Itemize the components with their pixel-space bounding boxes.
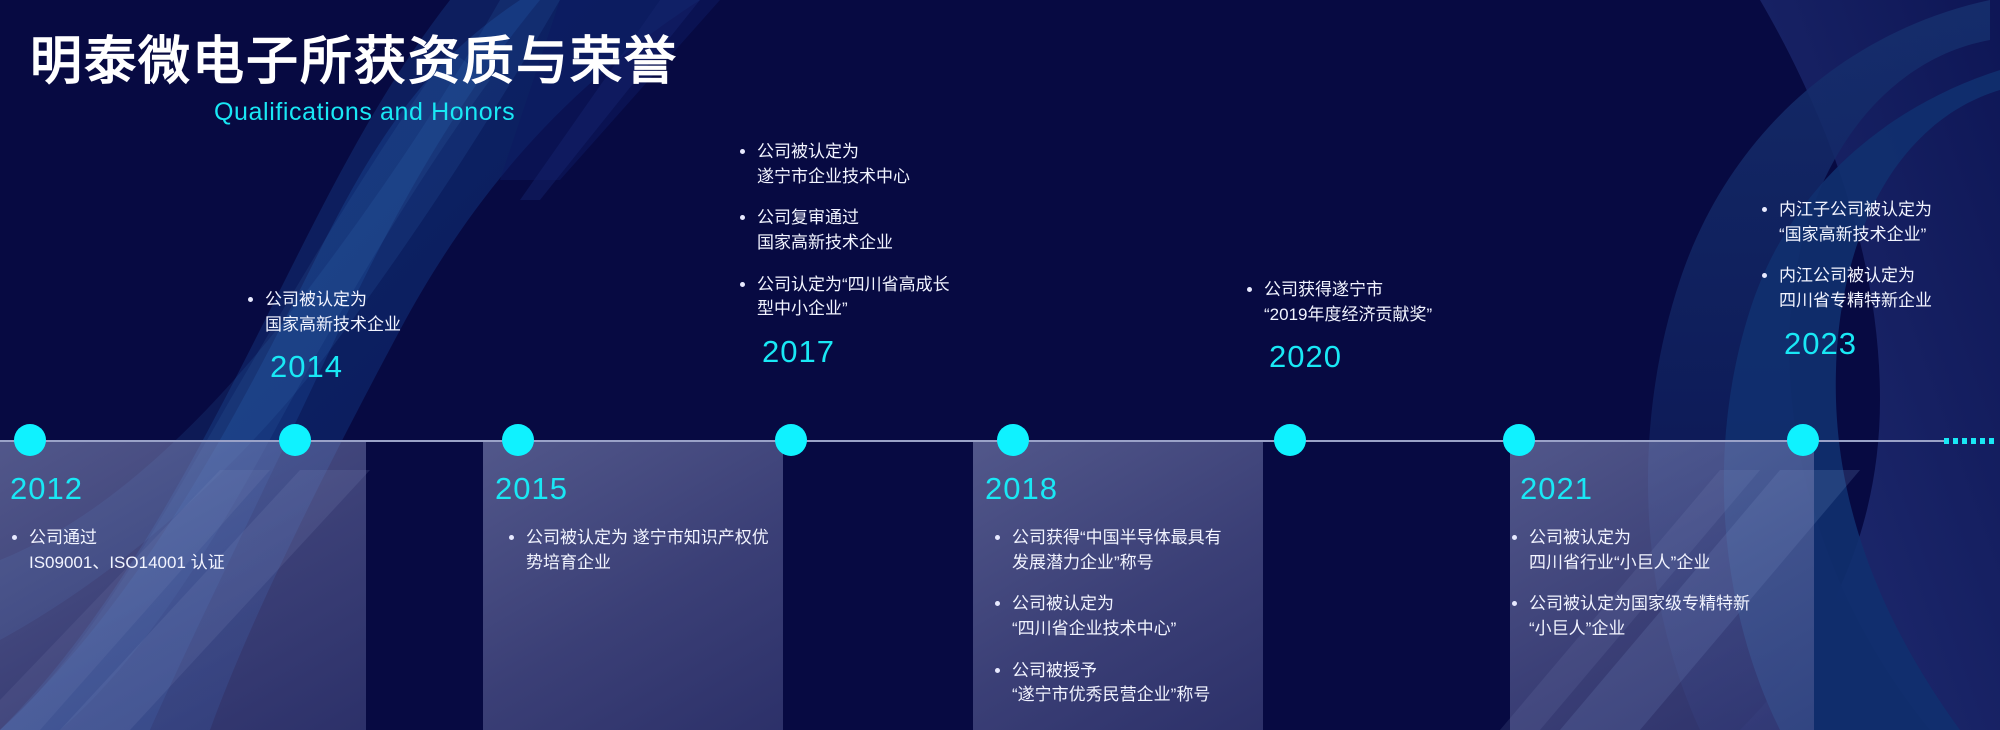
event-2015-bullets: 公司被认定为 遂宁市知识产权优势培育企业 — [495, 526, 783, 575]
event-2023: 内江子公司被认定为 “国家高新技术企业” 内江公司被认定为 四川省专精特新企业 … — [1760, 198, 1932, 359]
bullet: 公司被认定为 国家高新技术企业 — [246, 288, 401, 337]
page-title: 明泰微电子所获资质与荣誉 — [30, 34, 678, 91]
event-2020: 公司获得遂宁市 “2019年度经济贡献奖” 2020 — [1245, 278, 1432, 372]
bullet: 公司复审通过 国家高新技术企业 — [738, 206, 950, 255]
axis-dash — [1953, 438, 1958, 444]
axis-dash — [1989, 438, 1994, 444]
event-2021: 2021 公司被认定为 四川省行业“小巨人”企业 公司被认定为国家级专精特新 “… — [1510, 473, 1750, 642]
event-2023-bullets: 内江子公司被认定为 “国家高新技术企业” 内江公司被认定为 四川省专精特新企业 — [1760, 198, 1932, 314]
event-2014-bullets: 公司被认定为 国家高新技术企业 — [246, 288, 401, 337]
event-2020-year: 2020 — [1269, 341, 1432, 372]
bullet: 内江公司被认定为 四川省专精特新企业 — [1760, 264, 1932, 313]
event-2021-bullets: 公司被认定为 四川省行业“小巨人”企业 公司被认定为国家级专精特新 “小巨人”企… — [1510, 526, 1750, 642]
event-2023-year: 2023 — [1784, 328, 1932, 359]
axis-dash — [1962, 438, 1967, 444]
axis-dash — [1971, 438, 1976, 444]
event-2020-bullets: 公司获得遂宁市 “2019年度经济贡献奖” — [1245, 278, 1432, 327]
event-2012: 2012 公司通过 IS09001、ISO14001 认证 — [10, 473, 225, 575]
event-2014-year: 2014 — [270, 351, 401, 382]
timeline-dot-2023[interactable] — [1787, 424, 1819, 456]
event-2018-bullets: 公司获得“中国半导体最具有 发展潜力企业”称号 公司被认定为 “四川省企业技术中… — [985, 526, 1222, 708]
bullet: 公司被认定为 “四川省企业技术中心” — [993, 592, 1222, 641]
bullet: 公司被认定为 遂宁市企业技术中心 — [738, 140, 950, 189]
timeline-dot-2018[interactable] — [997, 424, 1029, 456]
axis-dash — [1980, 438, 1985, 444]
bullet: 公司被认定为国家级专精特新 “小巨人”企业 — [1510, 592, 1750, 641]
event-2018: 2018 公司获得“中国半导体最具有 发展潜力企业”称号 公司被认定为 “四川省… — [985, 473, 1222, 708]
event-2012-year: 2012 — [10, 473, 225, 504]
event-2012-bullets: 公司通过 IS09001、ISO14001 认证 — [10, 526, 225, 575]
timeline-dot-2020[interactable] — [1274, 424, 1306, 456]
timeline-dot-2014[interactable] — [279, 424, 311, 456]
event-2017: 公司被认定为 遂宁市企业技术中心 公司复审通过 国家高新技术企业 公司认定为“四… — [738, 140, 950, 367]
bullet: 公司通过 IS09001、ISO14001 认证 — [10, 526, 225, 575]
axis-dash — [1944, 438, 1949, 444]
bullet: 公司被授予 “遂宁市优秀民营企业”称号 — [993, 659, 1222, 708]
timeline-dot-2021[interactable] — [1503, 424, 1535, 456]
bullet: 内江子公司被认定为 “国家高新技术企业” — [1760, 198, 1932, 247]
event-2015: 2015 公司被认定为 遂宁市知识产权优势培育企业 — [495, 473, 783, 575]
bullet: 公司认定为“四川省高成长 型中小企业” — [738, 273, 950, 322]
timeline-dot-2015[interactable] — [502, 424, 534, 456]
event-2021-year: 2021 — [1520, 473, 1750, 504]
bullet: 公司获得遂宁市 “2019年度经济贡献奖” — [1245, 278, 1432, 327]
timeline-dot-2017[interactable] — [775, 424, 807, 456]
page-subtitle: Qualifications and Honors — [214, 98, 515, 127]
timeline-dot-2012[interactable] — [14, 424, 46, 456]
event-2017-bullets: 公司被认定为 遂宁市企业技术中心 公司复审通过 国家高新技术企业 公司认定为“四… — [738, 140, 950, 322]
event-2014: 公司被认定为 国家高新技术企业 2014 — [246, 288, 401, 382]
timeline-axis-dashes — [1944, 438, 2000, 444]
event-2017-year: 2017 — [762, 336, 950, 367]
bullet: 公司获得“中国半导体最具有 发展潜力企业”称号 — [993, 526, 1222, 575]
event-2015-year: 2015 — [495, 473, 783, 504]
bullet: 公司被认定为 四川省行业“小巨人”企业 — [1510, 526, 1750, 575]
slide-canvas: 明泰微电子所获资质与荣誉 Qualifications and Honors 公… — [0, 0, 2000, 730]
bullet: 公司被认定为 遂宁市知识产权优势培育企业 — [507, 526, 783, 575]
event-2018-year: 2018 — [985, 473, 1222, 504]
